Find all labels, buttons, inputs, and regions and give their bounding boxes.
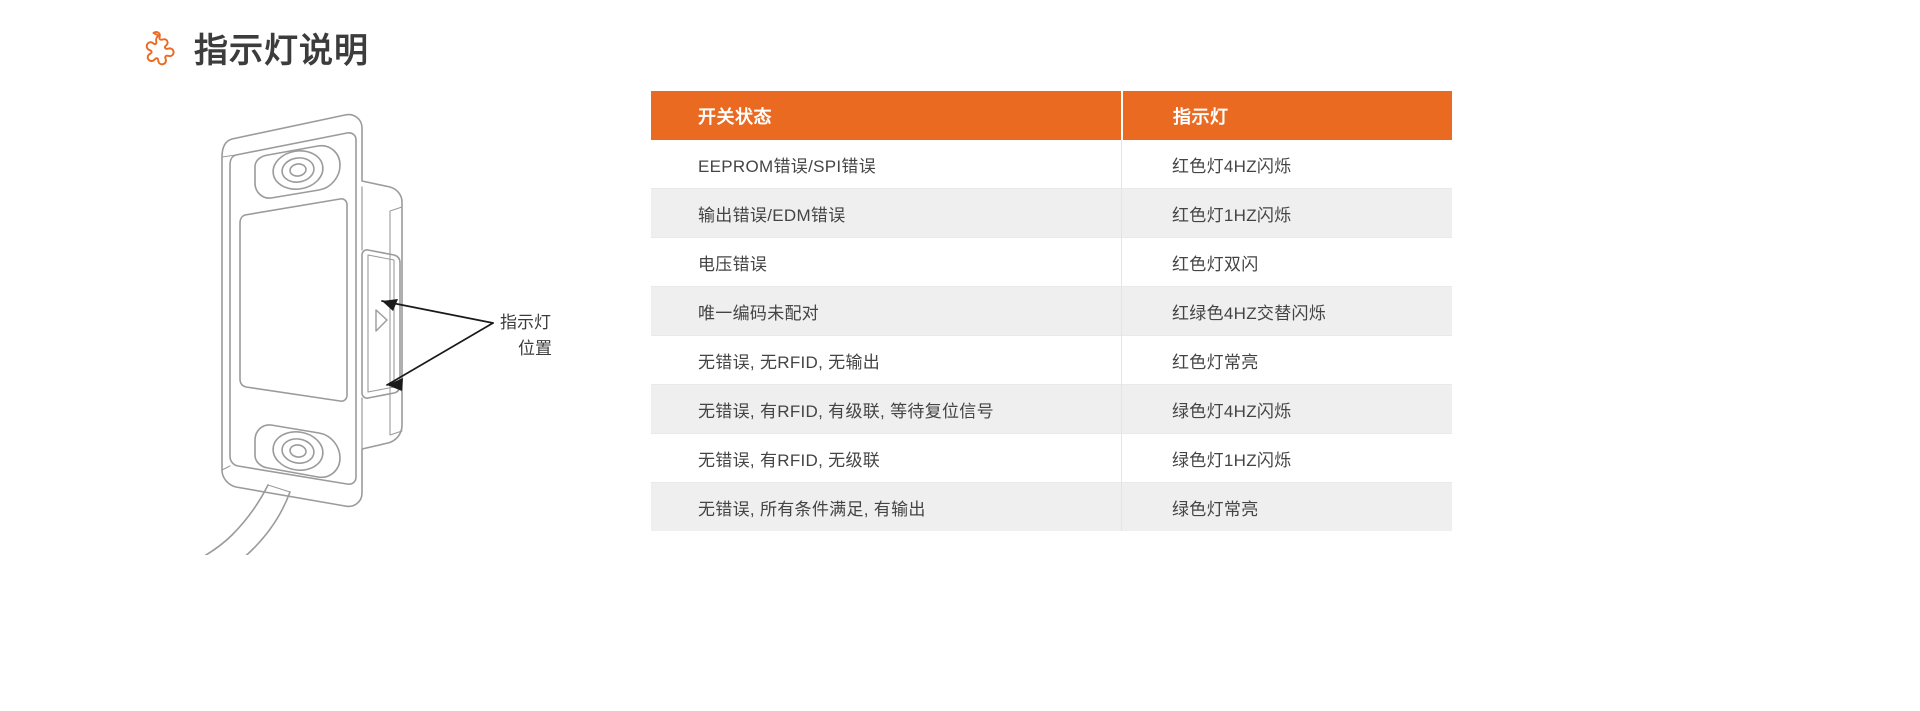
column-header-indicator-led: 指示灯 xyxy=(1121,91,1452,140)
cell-switch-state: 电压错误 xyxy=(651,238,1121,287)
table-row: 电压错误 红色灯双闪 xyxy=(651,238,1452,287)
table-row: 无错误, 有RFID, 有级联, 等待复位信号 绿色灯4HZ闪烁 xyxy=(651,385,1452,434)
page-root: 指示灯说明 xyxy=(0,0,1920,711)
table-body: EEPROM错误/SPI错误 红色灯4HZ闪烁 输出错误/EDM错误 红色灯1H… xyxy=(651,140,1452,531)
indicator-status-table: 开关状态 指示灯 EEPROM错误/SPI错误 红色灯4HZ闪烁 输出错误/ED… xyxy=(651,91,1452,531)
page-title: 指示灯说明 xyxy=(194,34,369,68)
cell-indicator-led: 红色灯1HZ闪烁 xyxy=(1121,189,1452,238)
cell-switch-state: 无错误, 有RFID, 有级联, 等待复位信号 xyxy=(651,385,1121,434)
cell-indicator-led: 绿色灯4HZ闪烁 xyxy=(1121,385,1452,434)
cell-switch-state: 无错误, 所有条件满足, 有输出 xyxy=(651,483,1121,531)
callout-indicator-position: 指示灯 位置 xyxy=(500,310,552,361)
table-row: 无错误, 有RFID, 无级联 绿色灯1HZ闪烁 xyxy=(651,434,1452,483)
cell-indicator-led: 红色灯4HZ闪烁 xyxy=(1121,140,1452,189)
cell-switch-state: 无错误, 有RFID, 无级联 xyxy=(651,434,1121,483)
cell-switch-state: EEPROM错误/SPI错误 xyxy=(651,140,1121,189)
cell-indicator-led: 红色灯双闪 xyxy=(1121,238,1452,287)
table-row: 无错误, 无RFID, 无输出 红色灯常亮 xyxy=(651,336,1452,385)
cell-switch-state: 输出错误/EDM错误 xyxy=(651,189,1121,238)
cell-switch-state: 无错误, 无RFID, 无输出 xyxy=(651,336,1121,385)
table-row: EEPROM错误/SPI错误 红色灯4HZ闪烁 xyxy=(651,140,1452,189)
callout-line-2: 位置 xyxy=(500,336,552,362)
page-title-group: 指示灯说明 xyxy=(138,30,369,72)
table-header-row: 开关状态 指示灯 xyxy=(651,91,1452,140)
callout-line-1: 指示灯 xyxy=(500,310,552,336)
cell-indicator-led: 绿色灯1HZ闪烁 xyxy=(1121,434,1452,483)
column-header-switch-state: 开关状态 xyxy=(651,91,1121,140)
cell-indicator-led: 红绿色4HZ交替闪烁 xyxy=(1121,287,1452,336)
table-row: 唯一编码未配对 红绿色4HZ交替闪烁 xyxy=(651,287,1452,336)
puzzle-piece-icon xyxy=(138,30,178,72)
table-row: 输出错误/EDM错误 红色灯1HZ闪烁 xyxy=(651,189,1452,238)
table-row: 无错误, 所有条件满足, 有输出 绿色灯常亮 xyxy=(651,483,1452,531)
cell-indicator-led: 绿色灯常亮 xyxy=(1121,483,1452,531)
cell-indicator-led: 红色灯常亮 xyxy=(1121,336,1452,385)
cell-switch-state: 唯一编码未配对 xyxy=(651,287,1121,336)
